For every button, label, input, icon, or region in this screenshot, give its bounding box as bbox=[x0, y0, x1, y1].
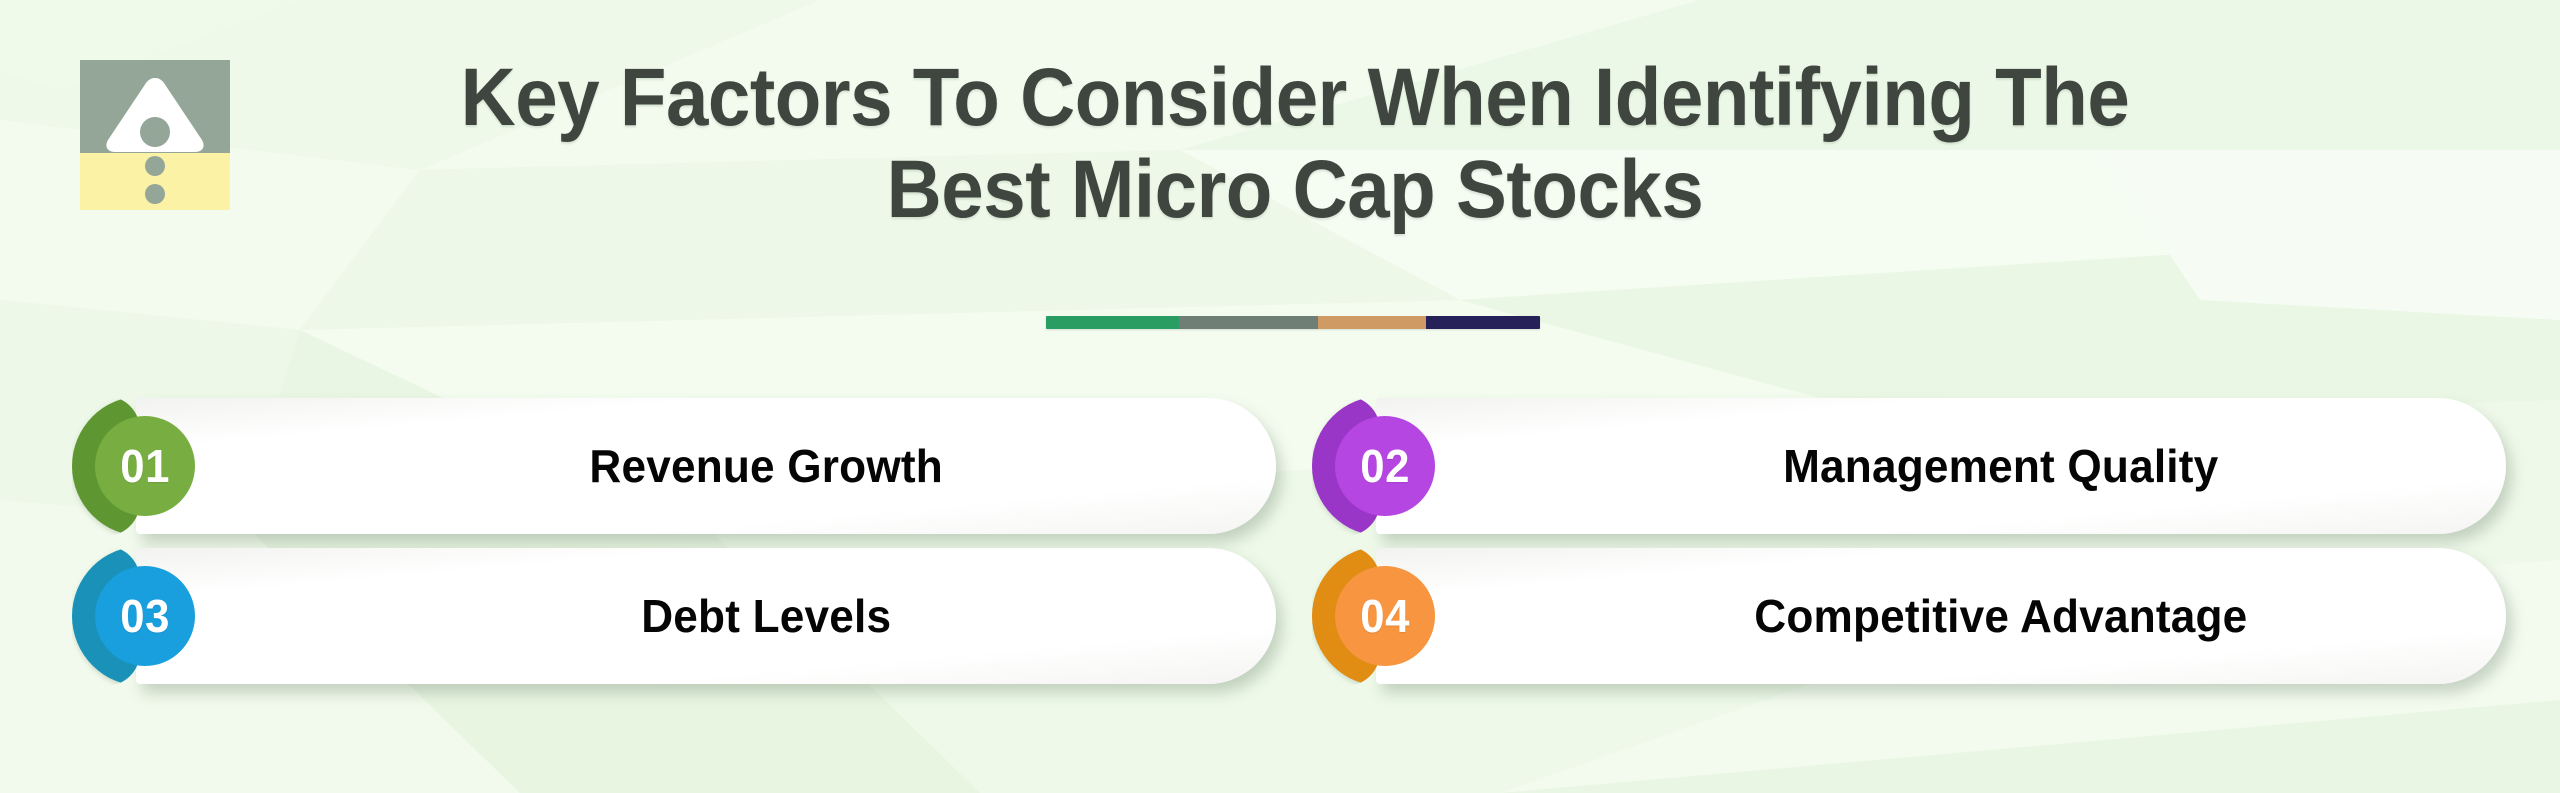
badge-inner-disc-01: 01 bbox=[95, 416, 195, 516]
factor-item-02[interactable]: Management Quality 02 bbox=[1312, 398, 2506, 534]
badge-inner-disc-02: 02 bbox=[1335, 416, 1435, 516]
factor-card-04[interactable]: Competitive Advantage bbox=[1376, 548, 2506, 684]
factor-list: Revenue Growth 01 Management Quality 02 bbox=[0, 0, 2560, 793]
factor-card-03[interactable]: Debt Levels bbox=[136, 548, 1276, 684]
factor-number-02: 02 bbox=[1360, 439, 1410, 493]
factor-item-03[interactable]: Debt Levels 03 bbox=[72, 548, 1276, 684]
factor-label-01: Revenue Growth bbox=[589, 439, 943, 493]
badge-inner-disc-04: 04 bbox=[1335, 566, 1435, 666]
factor-badge-03: 03 bbox=[72, 546, 212, 686]
factor-card-01[interactable]: Revenue Growth bbox=[136, 398, 1276, 534]
factor-badge-04: 04 bbox=[1312, 546, 1452, 686]
factor-label-02: Management Quality bbox=[1783, 439, 2218, 493]
badge-inner-disc-03: 03 bbox=[95, 566, 195, 666]
infographic-canvas: Key Factors To Consider When Identifying… bbox=[0, 0, 2560, 793]
factor-item-04[interactable]: Competitive Advantage 04 bbox=[1312, 548, 2506, 684]
factor-item-01[interactable]: Revenue Growth 01 bbox=[72, 398, 1276, 534]
factor-label-04: Competitive Advantage bbox=[1754, 589, 2247, 643]
factor-label-03: Debt Levels bbox=[641, 589, 891, 643]
factor-number-01: 01 bbox=[120, 439, 170, 493]
factor-card-02[interactable]: Management Quality bbox=[1376, 398, 2506, 534]
factor-badge-02: 02 bbox=[1312, 396, 1452, 536]
factor-number-03: 03 bbox=[120, 589, 170, 643]
factor-badge-01: 01 bbox=[72, 396, 212, 536]
factor-number-04: 04 bbox=[1360, 589, 1410, 643]
